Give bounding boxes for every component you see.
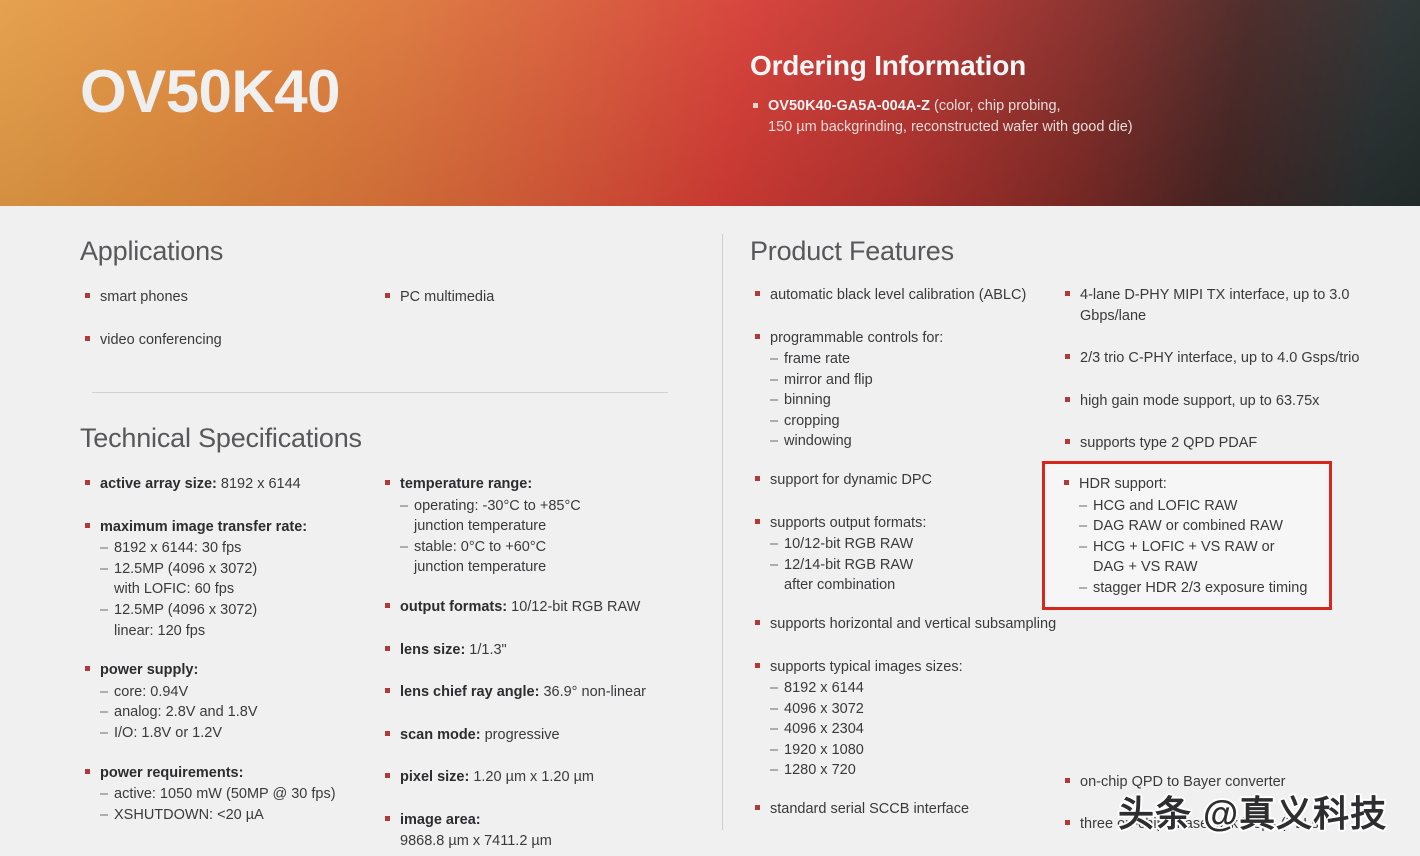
list-item: video conferencing bbox=[80, 330, 380, 351]
list-item: high gain mode support, up to 63.75x bbox=[1060, 391, 1370, 412]
spec-label: scan mode: bbox=[400, 727, 481, 743]
sublist-item: –I/O: 1.8V or 1.2V bbox=[100, 723, 380, 744]
sublist-item-label: XSHUTDOWN: <20 µA bbox=[114, 807, 264, 823]
sublist-item: –4096 x 2304 bbox=[770, 719, 1060, 740]
spec-value: 36.9° non-linear bbox=[539, 684, 646, 700]
square-bullet-icon bbox=[85, 480, 90, 485]
sublist-item: –stable: 0°C to +60°C bbox=[400, 537, 680, 558]
sublist-item: –8192 x 6144 bbox=[770, 678, 1060, 699]
list-item: lens chief ray angle: 36.9° non-linear bbox=[380, 682, 680, 703]
sublist-item-label: junction temperature bbox=[414, 518, 546, 534]
dash-icon: – bbox=[770, 349, 778, 370]
sublist-item: junction temperature bbox=[400, 557, 680, 578]
dash-icon: – bbox=[770, 370, 778, 391]
hdr-support-highlight-box: HDR support: –HCG and LOFIC RAW–DAG RAW … bbox=[1042, 461, 1332, 610]
square-bullet-icon bbox=[385, 816, 390, 821]
dash-icon: – bbox=[1079, 578, 1087, 599]
ordering-desc-line-1: (color, chip probing, bbox=[930, 98, 1061, 114]
spec-label: pixel size: bbox=[400, 769, 469, 785]
sublist-item: –1920 x 1080 bbox=[770, 740, 1060, 761]
square-bullet-icon bbox=[385, 731, 390, 736]
list-item-label: three on-chip phase lock loops (PLLs) bbox=[1080, 816, 1323, 832]
list-item: programmable controls for:–frame rate–mi… bbox=[750, 328, 1060, 452]
list-item: scan mode: progressive bbox=[380, 725, 680, 746]
spec-label: lens size: bbox=[400, 642, 465, 658]
sublist-item: DAG + VS RAW bbox=[1079, 557, 1317, 578]
sublist-item-label: mirror and flip bbox=[784, 372, 873, 388]
square-bullet-icon bbox=[385, 293, 390, 298]
dash-icon: – bbox=[770, 740, 778, 761]
dash-icon: – bbox=[770, 390, 778, 411]
dash-icon: – bbox=[770, 699, 778, 720]
square-bullet-icon bbox=[755, 519, 760, 524]
list-item: supports output formats:–10/12-bit RGB R… bbox=[750, 513, 1060, 596]
list-item-label: high gain mode support, up to 63.75x bbox=[1080, 393, 1319, 409]
sublist-item: junction temperature bbox=[400, 516, 680, 537]
sublist-item-label: HCG + LOFIC + VS RAW or bbox=[1093, 539, 1275, 555]
sublist-item-label: 8192 x 6144 bbox=[784, 680, 864, 696]
sublist-item: –1280 x 720 bbox=[770, 760, 1060, 781]
sublist-item-label: 1280 x 720 bbox=[784, 762, 856, 778]
sublist-item-label: analog: 2.8V and 1.8V bbox=[114, 704, 258, 720]
list-item-label: standard serial SCCB interface bbox=[770, 801, 969, 817]
sublist-item-label: linear: 120 fps bbox=[114, 623, 205, 639]
list-item: maximum image transfer rate:–8192 x 6144… bbox=[80, 517, 380, 641]
sublist-item: –HCG and LOFIC RAW bbox=[1079, 496, 1317, 517]
sublist-item-label: stable: 0°C to +60°C bbox=[414, 539, 546, 555]
product-features-column-b: 4-lane D-PHY MIPI TX interface, up to 3.… bbox=[1060, 285, 1370, 856]
list-item-label: support for dynamic DPC bbox=[770, 472, 932, 488]
sublist-item: –stagger HDR 2/3 exposure timing bbox=[1079, 578, 1317, 599]
square-bullet-icon bbox=[385, 773, 390, 778]
applications-heading: Applications bbox=[80, 236, 680, 267]
list-item: pixel size: 1.20 µm x 1.20 µm bbox=[380, 767, 680, 788]
sublist-item-label: active: 1050 mW (50MP @ 30 fps) bbox=[114, 786, 336, 802]
sublist-item: –core: 0.94V bbox=[100, 682, 380, 703]
dash-icon: – bbox=[770, 555, 778, 576]
spec-label: temperature range: bbox=[400, 476, 532, 492]
sublist-item-label: I/O: 1.8V or 1.2V bbox=[114, 725, 222, 741]
list-item: power supply:–core: 0.94V–analog: 2.8V a… bbox=[80, 660, 380, 743]
list-item-label: HDR support: bbox=[1079, 476, 1167, 492]
dash-icon: – bbox=[100, 682, 108, 703]
sublist-item-label: core: 0.94V bbox=[114, 684, 188, 700]
page-title: OV50K40 bbox=[80, 62, 340, 122]
square-bullet-icon bbox=[755, 291, 760, 296]
spec-label: maximum image transfer rate: bbox=[100, 519, 307, 535]
dash-icon: – bbox=[100, 805, 108, 826]
sublist-item: –cropping bbox=[770, 411, 1060, 432]
sublist: –8192 x 6144–4096 x 3072–4096 x 2304–192… bbox=[770, 678, 1060, 781]
dash-icon: – bbox=[1079, 516, 1087, 537]
list-item-label: video conferencing bbox=[100, 332, 222, 348]
list-item-label: supports horizontal and vertical subsamp… bbox=[770, 616, 1056, 632]
sublist-item-label: stagger HDR 2/3 exposure timing bbox=[1093, 580, 1307, 596]
dash-icon: – bbox=[100, 723, 108, 744]
sublist-item: –HCG + LOFIC + VS RAW or bbox=[1079, 537, 1317, 558]
sublist-item: –binning bbox=[770, 390, 1060, 411]
list-item-label: supports type 2 QPD PDAF bbox=[1080, 435, 1257, 451]
dash-icon: – bbox=[400, 537, 408, 558]
list-item: PC multimedia bbox=[380, 287, 680, 308]
technical-specifications-heading: Technical Specifications bbox=[80, 423, 680, 454]
square-bullet-icon bbox=[1065, 291, 1070, 296]
sublist-item: with LOFIC: 60 fps bbox=[100, 579, 380, 600]
spec-value: 9868.8 µm x 7411.2 µm bbox=[400, 831, 680, 852]
dash-icon: – bbox=[770, 760, 778, 781]
sublist-item-label: 12.5MP (4096 x 3072) bbox=[114, 561, 257, 577]
sublist-item: –12/14-bit RGB RAW bbox=[770, 555, 1060, 576]
sublist-item-label: 4096 x 2304 bbox=[784, 721, 864, 737]
list-item-label: supports output formats: bbox=[770, 515, 926, 531]
spec-label: output formats: bbox=[400, 599, 507, 615]
product-features-column-b-upper: 4-lane D-PHY MIPI TX interface, up to 3.… bbox=[1060, 285, 1370, 454]
sublist-item-label: with LOFIC: 60 fps bbox=[114, 581, 234, 597]
ordering-list-item: OV50K40-GA5A-004A-Z (color, chip probing… bbox=[750, 96, 1350, 138]
column-divider bbox=[722, 234, 723, 830]
square-bullet-icon bbox=[385, 480, 390, 485]
square-bullet-icon bbox=[85, 769, 90, 774]
section-divider bbox=[92, 392, 668, 393]
square-bullet-icon bbox=[1065, 778, 1070, 783]
ordering-information-heading: Ordering Information bbox=[750, 50, 1350, 82]
list-item: on-chip QPD to Bayer converter bbox=[1060, 772, 1370, 793]
list-item: HDR support: –HCG and LOFIC RAW–DAG RAW … bbox=[1059, 474, 1317, 598]
square-bullet-icon bbox=[1065, 820, 1070, 825]
ordering-part-number: OV50K40-GA5A-004A-Z bbox=[768, 98, 930, 114]
list-item: supports horizontal and vertical subsamp… bbox=[750, 614, 1060, 635]
square-bullet-icon bbox=[85, 336, 90, 341]
list-item: 2/3 trio C-PHY interface, up to 4.0 Gsps… bbox=[1060, 348, 1370, 369]
dash-icon: – bbox=[100, 538, 108, 559]
page-content: Applications smart phones video conferen… bbox=[0, 206, 1420, 856]
sublist-item: –4096 x 3072 bbox=[770, 699, 1060, 720]
sublist-item-label: junction temperature bbox=[414, 559, 546, 575]
square-bullet-icon bbox=[753, 103, 758, 108]
sublist-item: –DAG RAW or combined RAW bbox=[1079, 516, 1317, 537]
product-features-column-b-lower: on-chip QPD to Bayer converterthree on-c… bbox=[1060, 772, 1370, 856]
sublist-item-label: windowing bbox=[784, 433, 852, 449]
sublist-item: –12.5MP (4096 x 3072) bbox=[100, 600, 380, 621]
sublist-item: linear: 120 fps bbox=[100, 621, 380, 642]
list-item: output formats: 10/12-bit RGB RAW bbox=[380, 597, 680, 618]
list-item: support for dynamic DPC bbox=[750, 470, 1060, 491]
list-item: smart phones bbox=[80, 287, 380, 308]
sublist-item: after combination bbox=[770, 575, 1060, 596]
applications-column-b: PC multimedia bbox=[380, 287, 680, 364]
sublist-item: –active: 1050 mW (50MP @ 30 fps) bbox=[100, 784, 380, 805]
product-features-heading: Product Features bbox=[750, 236, 1370, 267]
dash-icon: – bbox=[770, 678, 778, 699]
sublist-item-label: 12.5MP (4096 x 3072) bbox=[114, 602, 257, 618]
sublist-item-label: after combination bbox=[784, 577, 895, 593]
dash-icon: – bbox=[770, 719, 778, 740]
dash-icon: – bbox=[100, 559, 108, 580]
technical-specifications-columns: active array size: 8192 x 6144maximum im… bbox=[80, 474, 680, 856]
sublist: –active: 1050 mW (50MP @ 30 fps)–XSHUTDO… bbox=[100, 784, 380, 825]
square-bullet-icon bbox=[755, 663, 760, 668]
page-header: OV50K40 Ordering Information OV50K40-GA5… bbox=[0, 0, 1420, 206]
spec-value: progressive bbox=[481, 727, 560, 743]
tech-spec-column-a: active array size: 8192 x 6144maximum im… bbox=[80, 474, 380, 856]
square-bullet-icon bbox=[1065, 397, 1070, 402]
spec-label: lens chief ray angle: bbox=[400, 684, 539, 700]
dash-icon: – bbox=[770, 534, 778, 555]
spec-label: power requirements: bbox=[100, 765, 243, 781]
list-item-label: on-chip QPD to Bayer converter bbox=[1080, 774, 1286, 790]
sublist-item-label: 8192 x 6144: 30 fps bbox=[114, 540, 241, 556]
list-item-label: supports typical images sizes: bbox=[770, 659, 963, 675]
sublist-item-label: 1920 x 1080 bbox=[784, 742, 864, 758]
applications-columns: smart phones video conferencing PC multi… bbox=[80, 287, 680, 364]
sublist: –frame rate–mirror and flip–binning–crop… bbox=[770, 349, 1060, 452]
sublist-item-label: 4096 x 3072 bbox=[784, 701, 864, 717]
spec-value: 1.20 µm x 1.20 µm bbox=[469, 769, 594, 785]
dash-icon: – bbox=[100, 702, 108, 723]
list-item-label: automatic black level calibration (ABLC) bbox=[770, 287, 1026, 303]
list-item: 4-lane D-PHY MIPI TX interface, up to 3.… bbox=[1060, 285, 1370, 326]
sublist-item-label: cropping bbox=[784, 413, 840, 429]
sublist-item: –windowing bbox=[770, 431, 1060, 452]
list-item-label: 2/3 trio C-PHY interface, up to 4.0 Gsps… bbox=[1080, 350, 1359, 366]
square-bullet-icon bbox=[1064, 480, 1069, 485]
list-item-label: PC multimedia bbox=[400, 289, 494, 305]
sublist-item: –analog: 2.8V and 1.8V bbox=[100, 702, 380, 723]
right-pane: Product Features automatic black level c… bbox=[750, 236, 1370, 856]
square-bullet-icon bbox=[755, 334, 760, 339]
square-bullet-icon bbox=[85, 666, 90, 671]
dash-icon: – bbox=[100, 784, 108, 805]
dash-icon: – bbox=[1079, 537, 1087, 558]
list-item-label: programmable controls for: bbox=[770, 330, 943, 346]
spec-value: 1/1.3" bbox=[465, 642, 506, 658]
product-features-column-a: automatic black level calibration (ABLC)… bbox=[750, 285, 1060, 856]
list-item: supports type 2 QPD PDAF bbox=[1060, 433, 1370, 454]
square-bullet-icon bbox=[85, 293, 90, 298]
ordering-information-section: Ordering Information OV50K40-GA5A-004A-Z… bbox=[750, 50, 1350, 138]
list-item: three on-chip phase lock loops (PLLs) bbox=[1060, 814, 1370, 835]
sublist: –10/12-bit RGB RAW–12/14-bit RGB RAWafte… bbox=[770, 534, 1060, 596]
sublist-item: –12.5MP (4096 x 3072) bbox=[100, 559, 380, 580]
square-bullet-icon bbox=[755, 476, 760, 481]
sublist-item-label: 12/14-bit RGB RAW bbox=[784, 557, 913, 573]
applications-column-a: smart phones video conferencing bbox=[80, 287, 380, 364]
sublist-item: –frame rate bbox=[770, 349, 1060, 370]
square-bullet-icon bbox=[755, 620, 760, 625]
dash-icon: – bbox=[400, 496, 408, 517]
spec-label: power supply: bbox=[100, 662, 198, 678]
list-item: standard serial SCCB interface bbox=[750, 799, 1060, 820]
list-item: image area:9868.8 µm x 7411.2 µm bbox=[380, 810, 680, 851]
left-pane: Applications smart phones video conferen… bbox=[80, 236, 680, 856]
sublist-item-label: DAG + VS RAW bbox=[1093, 559, 1198, 575]
hdr-sublist: –HCG and LOFIC RAW–DAG RAW or combined R… bbox=[1079, 496, 1317, 599]
sublist-item: –operating: -30°C to +85°C bbox=[400, 496, 680, 517]
square-bullet-icon bbox=[755, 805, 760, 810]
spec-label: active array size: bbox=[100, 476, 217, 492]
sublist-item-label: frame rate bbox=[784, 351, 850, 367]
sublist-item: –mirror and flip bbox=[770, 370, 1060, 391]
sublist-item: –10/12-bit RGB RAW bbox=[770, 534, 1060, 555]
dash-icon: – bbox=[770, 411, 778, 432]
list-item-label: 4-lane D-PHY MIPI TX interface, up to 3.… bbox=[1080, 287, 1349, 324]
spec-label: image area: bbox=[400, 812, 481, 828]
tech-spec-column-b: temperature range:–operating: -30°C to +… bbox=[380, 474, 680, 856]
dash-icon: – bbox=[770, 431, 778, 452]
sublist-item-label: operating: -30°C to +85°C bbox=[414, 498, 581, 514]
sublist-item-label: HCG and LOFIC RAW bbox=[1093, 498, 1238, 514]
square-bullet-icon bbox=[1065, 354, 1070, 359]
square-bullet-icon bbox=[85, 523, 90, 528]
spec-value: 8192 x 6144 bbox=[217, 476, 301, 492]
list-item: active array size: 8192 x 6144 bbox=[80, 474, 380, 495]
square-bullet-icon bbox=[385, 646, 390, 651]
sublist-item: –XSHUTDOWN: <20 µA bbox=[100, 805, 380, 826]
sublist: –core: 0.94V–analog: 2.8V and 1.8V–I/O: … bbox=[100, 682, 380, 744]
list-item: power requirements:–active: 1050 mW (50M… bbox=[80, 763, 380, 826]
product-features-columns: automatic black level calibration (ABLC)… bbox=[750, 285, 1370, 856]
list-item: temperature range:–operating: -30°C to +… bbox=[380, 474, 680, 578]
sublist: –8192 x 6144: 30 fps–12.5MP (4096 x 3072… bbox=[100, 538, 380, 641]
sublist-item-label: 10/12-bit RGB RAW bbox=[784, 536, 913, 552]
sublist: –operating: -30°C to +85°Cjunction tempe… bbox=[400, 496, 680, 578]
square-bullet-icon bbox=[385, 688, 390, 693]
list-item: supports typical images sizes:–8192 x 61… bbox=[750, 657, 1060, 781]
dash-icon: – bbox=[100, 600, 108, 621]
list-item-label: smart phones bbox=[100, 289, 188, 305]
dash-icon: – bbox=[1079, 496, 1087, 517]
spec-value: 10/12-bit RGB RAW bbox=[507, 599, 640, 615]
sublist-item-label: DAG RAW or combined RAW bbox=[1093, 518, 1283, 534]
ordering-desc-line-2: 150 µm backgrinding, reconstructed wafer… bbox=[768, 119, 1133, 135]
sublist-item: –8192 x 6144: 30 fps bbox=[100, 538, 380, 559]
square-bullet-icon bbox=[1065, 439, 1070, 444]
sublist-item-label: binning bbox=[784, 392, 831, 408]
square-bullet-icon bbox=[385, 603, 390, 608]
list-item: automatic black level calibration (ABLC) bbox=[750, 285, 1060, 306]
list-item: lens size: 1/1.3" bbox=[380, 640, 680, 661]
